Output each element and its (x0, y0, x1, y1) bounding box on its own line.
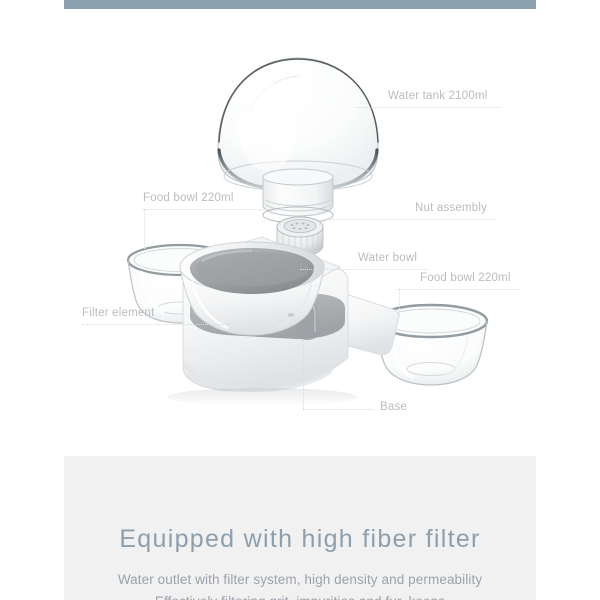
leader-filter-element (82, 324, 230, 325)
leader-water-bowl (300, 269, 428, 270)
callout-filter-element: Filter element (82, 306, 154, 320)
callout-food-bowl-right-label: Food bowl 220ml (420, 272, 511, 284)
callout-water-bowl: Water bowl (358, 251, 417, 265)
callout-base: Base (380, 400, 407, 414)
product-exploded-illustration (0, 9, 600, 456)
callout-water-tank: Water tank 2100ml (388, 89, 488, 103)
leader-base-riser (303, 339, 304, 409)
leader-nut-assembly (330, 219, 495, 220)
product-detail-page: Water tank 2100ml Food bowl 220ml Nut as… (0, 0, 600, 600)
callout-nut-assembly: Nut assembly (415, 201, 487, 215)
feature-description-line-2: Effectively filtering grit, impurities a… (64, 591, 536, 600)
feature-title: Equipped with high fiber filter (64, 525, 536, 553)
callout-food-bowl-right: Food bowl 220ml (420, 271, 511, 285)
tank-neck-part (263, 169, 333, 223)
feature-description-line-1: Water outlet with filter system, high de… (64, 569, 536, 591)
callout-base-label: Base (380, 401, 407, 413)
feature-panel: Equipped with high fiber filter Water ou… (64, 456, 536, 600)
leader-food-bowl-right-drop (399, 289, 400, 317)
callout-water-bowl-label: Water bowl (358, 252, 417, 264)
callout-food-bowl-left-label: Food bowl 220ml (143, 192, 234, 204)
callout-filter-element-label: Filter element (82, 307, 154, 319)
exploded-diagram: Water tank 2100ml Food bowl 220ml Nut as… (0, 9, 600, 456)
callout-food-bowl-left: Food bowl 220ml (143, 191, 234, 205)
leader-food-bowl-right (398, 289, 520, 290)
leader-food-bowl-left (143, 209, 268, 210)
leader-food-bowl-left-drop (144, 209, 145, 249)
leader-water-tank (355, 107, 500, 108)
top-accent-bar (64, 0, 536, 9)
callout-water-tank-label: Water tank 2100ml (388, 90, 488, 102)
leader-base (303, 409, 373, 410)
callout-nut-assembly-label: Nut assembly (415, 202, 487, 214)
